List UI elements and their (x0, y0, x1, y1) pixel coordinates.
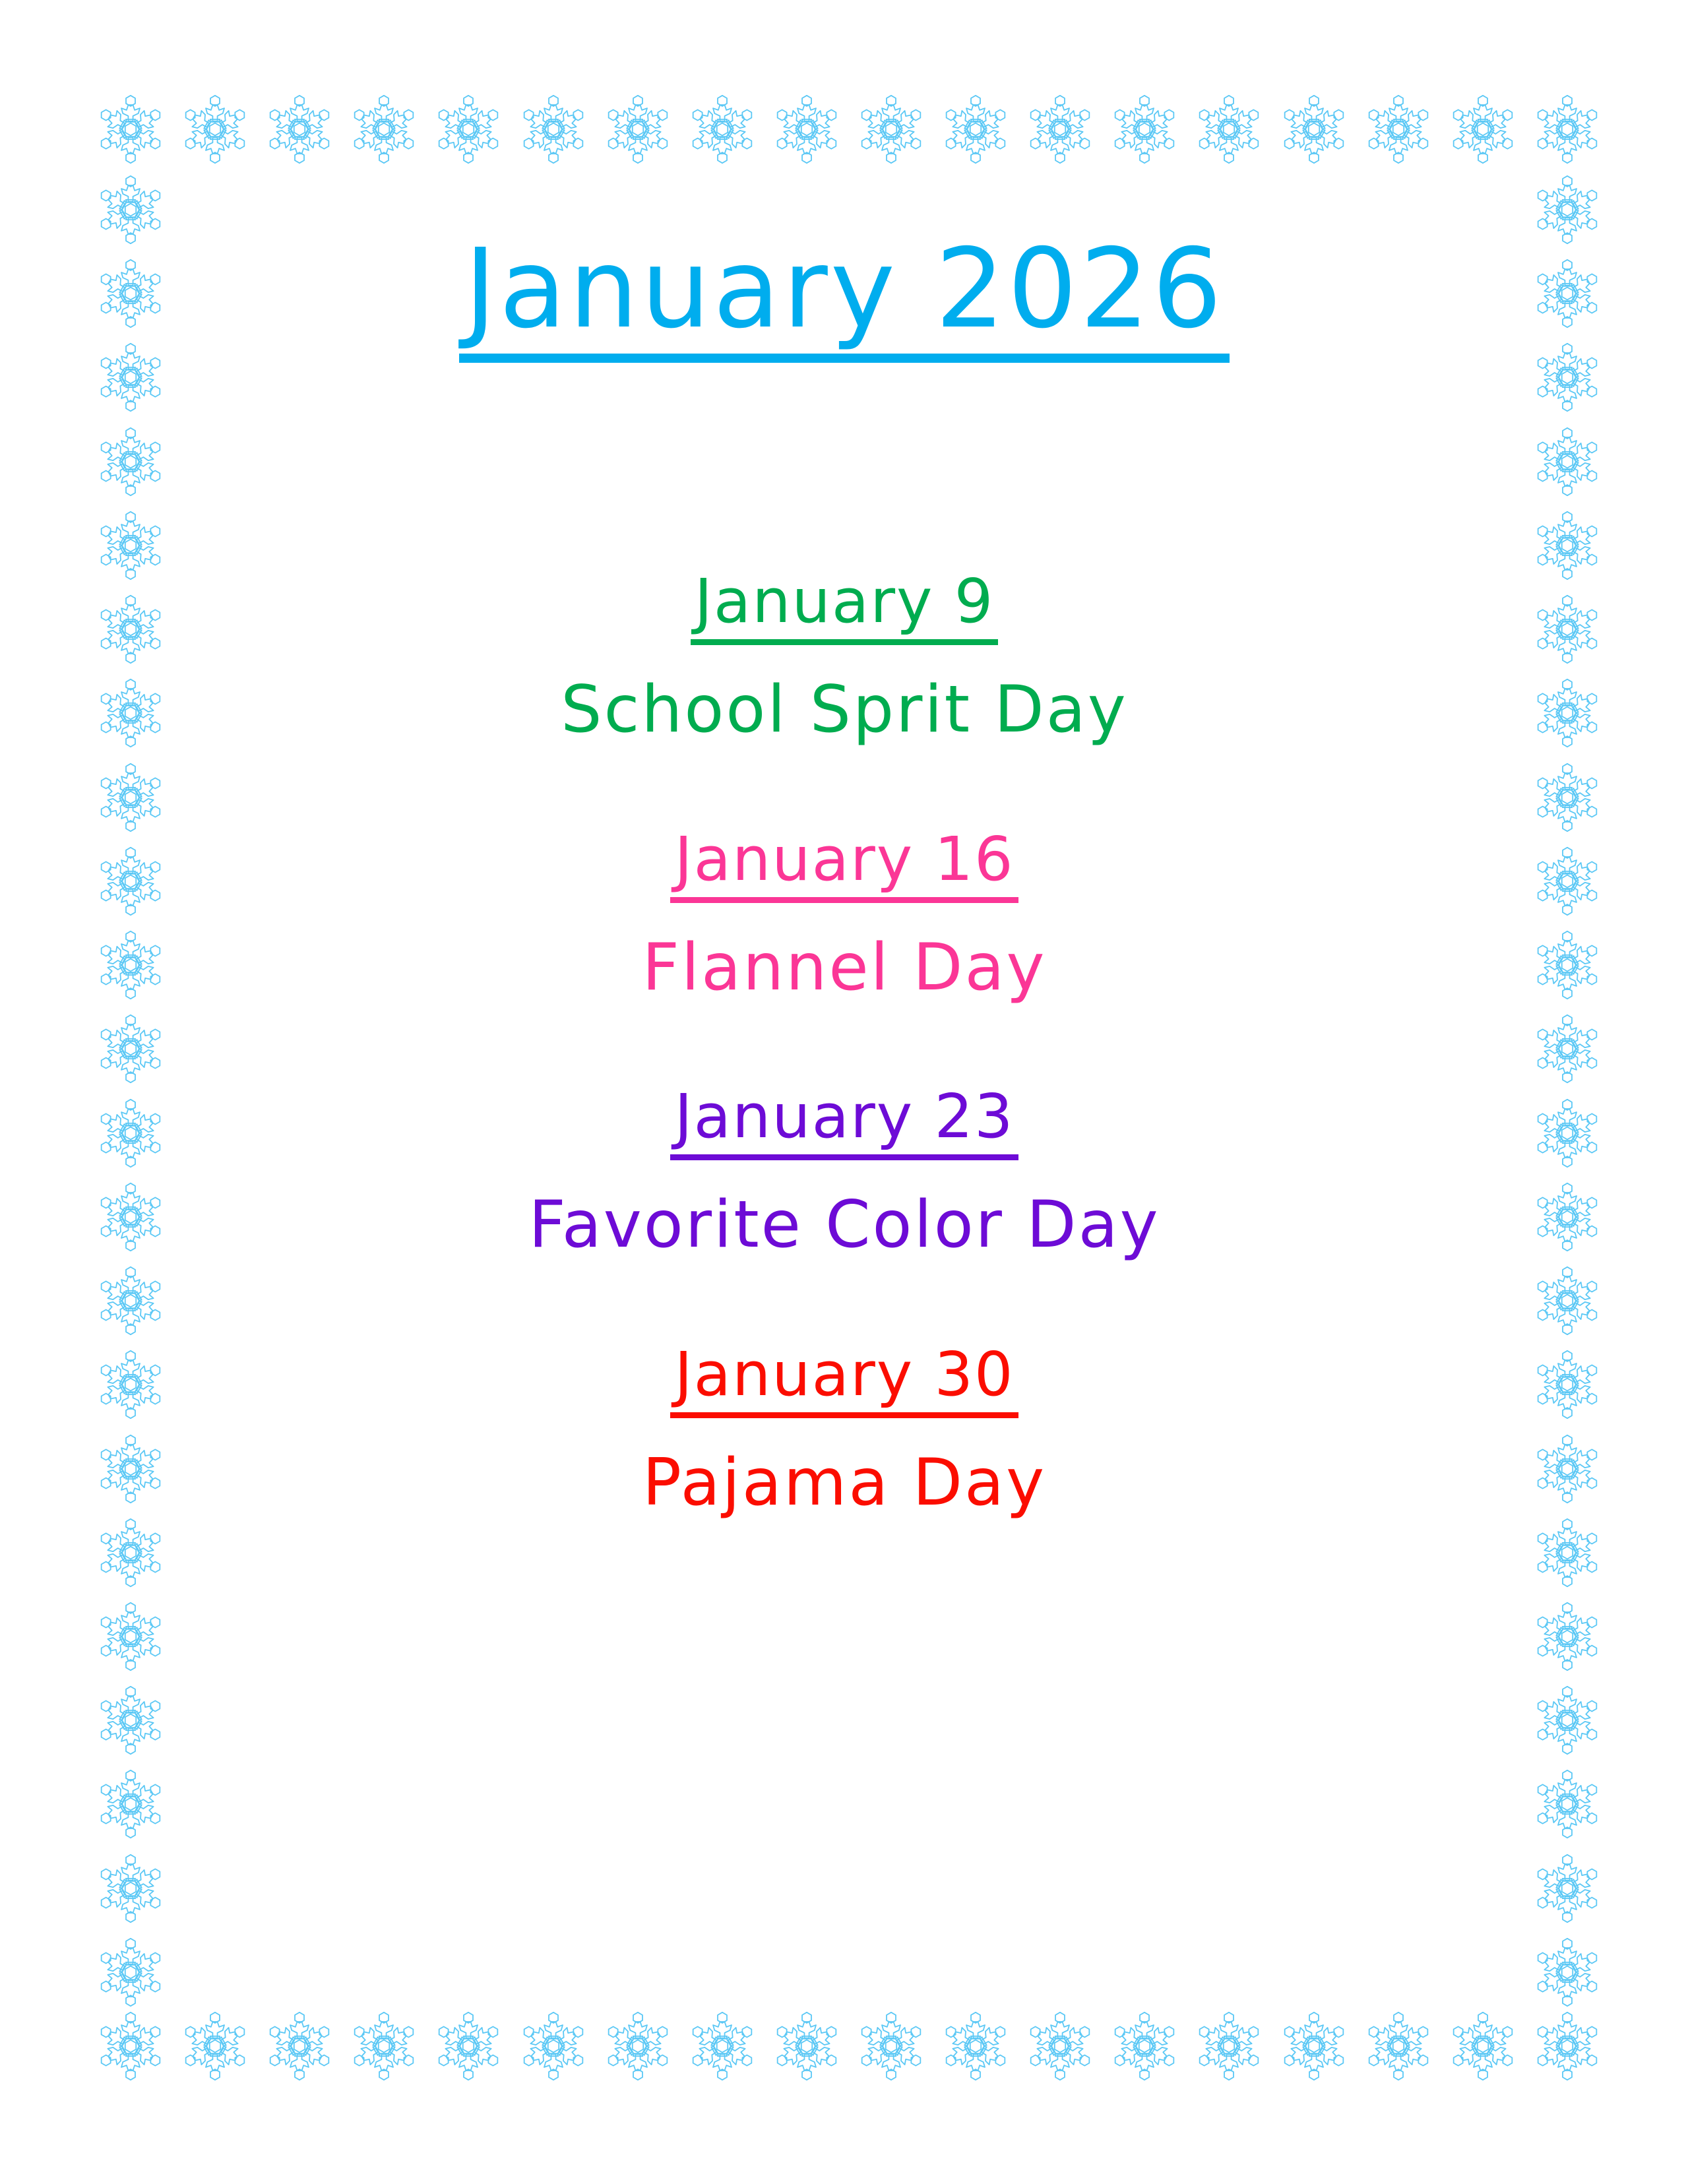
snowflake-icon (1530, 1096, 1604, 1170)
snowflake-icon (94, 509, 168, 582)
snowflake-icon (94, 1096, 168, 1170)
snowflake-icon (94, 1264, 168, 1338)
snowflake-icon (94, 1767, 168, 1841)
snowflake-icon (94, 92, 168, 166)
snowflake-icon (94, 1600, 168, 1673)
snowflake-icon (1530, 928, 1604, 1002)
snowflake-icon (1530, 340, 1604, 414)
event-date-1: January 16 (670, 825, 1018, 903)
snowflake-icon (94, 2009, 168, 2083)
snowflake-icon (94, 1180, 168, 1254)
snowflake-icon (1530, 676, 1604, 750)
event-name-2: Favorite Color Day (178, 1188, 1511, 1263)
list-item: January 23 Favorite Color Day (178, 1082, 1511, 1263)
snowflake-icon (1530, 1767, 1604, 1841)
event-name-3: Pajama Day (178, 1446, 1511, 1520)
snowflake-icon (1530, 844, 1604, 918)
snowflake-icon (1530, 1683, 1604, 1757)
flyer-page: January 2026 January 9 School Sprit Day … (0, 0, 1688, 2184)
snowflake-icon (1530, 173, 1604, 247)
event-date-2: January 23 (670, 1082, 1018, 1160)
snowflake-icon (94, 1683, 168, 1757)
snowflake-icon (94, 844, 168, 918)
snowflake-icon (1530, 1516, 1604, 1590)
snowflake-icon (94, 257, 168, 330)
list-item: January 9 School Sprit Day (178, 567, 1511, 747)
snowflake-icon (94, 1348, 168, 1421)
snowflake-icon (1530, 257, 1604, 330)
snowflake-icon (1530, 509, 1604, 582)
event-name-0: School Sprit Day (178, 673, 1511, 747)
snowflake-icon (94, 1432, 168, 1506)
snowflake-icon (1530, 1012, 1604, 1086)
page-title: January 2026 (459, 232, 1230, 363)
snowflake-icon (94, 1012, 168, 1086)
snowflake-icon (1530, 425, 1604, 499)
border-left (94, 173, 168, 2009)
list-item: January 16 Flannel Day (178, 825, 1511, 1005)
snowflake-icon (1530, 2009, 1604, 2083)
snowflake-icon (1530, 92, 1604, 166)
snowflake-icon (1530, 1264, 1604, 1338)
snowflake-icon (1530, 1600, 1604, 1673)
snowflake-icon (94, 340, 168, 414)
snowflake-icon (1530, 1935, 1604, 2009)
snowflake-icon (94, 592, 168, 666)
event-list: January 9 School Sprit Day January 16 Fl… (178, 567, 1511, 1520)
snowflake-icon (94, 1935, 168, 2009)
snowflake-icon (1530, 761, 1604, 834)
snowflake-icon (1530, 1180, 1604, 1254)
snowflake-icon (94, 173, 168, 247)
snowflake-icon (94, 425, 168, 499)
snowflake-icon (1530, 1852, 1604, 1925)
snowflake-icon (1530, 592, 1604, 666)
snowflake-icon (94, 928, 168, 1002)
border-right (1530, 173, 1604, 2009)
snowflake-icon (94, 1516, 168, 1590)
snowflake-icon (1530, 1348, 1604, 1421)
snowflake-icon (94, 1852, 168, 1925)
page-title-wrap: January 2026 (178, 232, 1511, 363)
event-name-1: Flannel Day (178, 931, 1511, 1005)
snowflake-icon (94, 676, 168, 750)
flyer-content: January 2026 January 9 School Sprit Day … (178, 0, 1511, 2184)
snowflake-icon (94, 761, 168, 834)
snowflake-icon (1530, 1432, 1604, 1506)
list-item: January 30 Pajama Day (178, 1340, 1511, 1520)
event-date-3: January 30 (670, 1340, 1018, 1418)
event-date-0: January 9 (691, 567, 999, 645)
